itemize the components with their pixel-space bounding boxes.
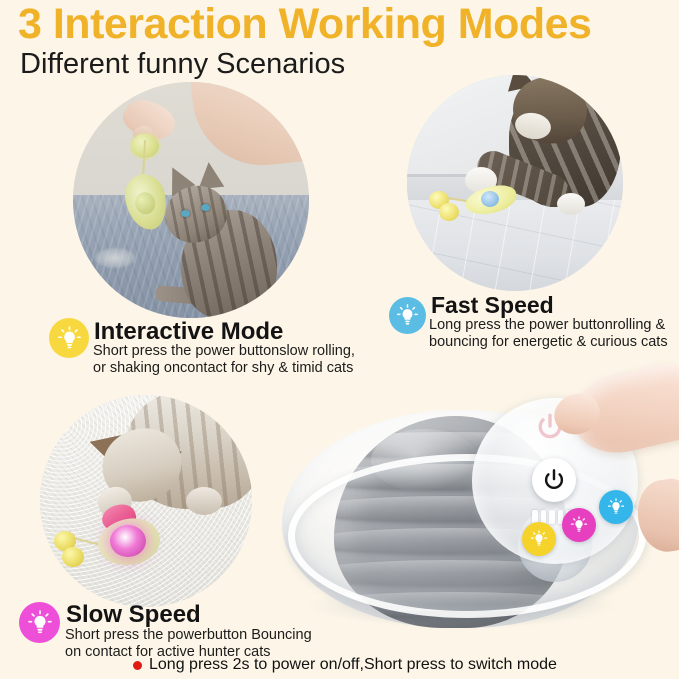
footer-instruction: Long press 2s to power on/off,Short pres… [133,656,557,674]
mode-title: Fast Speed [431,294,554,317]
toy-core-light [481,191,499,207]
fast-mode-indicator[interactable] [599,490,633,524]
cat-eye-left [181,210,190,217]
cat-paw-rear [186,487,222,515]
infographic-canvas: 3 Interaction Working Modes Different fu… [0,0,679,679]
lightbulb-icon [49,318,89,358]
toy-glowing-light [110,525,146,557]
interactive-mode-indicator[interactable] [522,522,556,556]
slow-mode-indicator[interactable] [562,508,596,542]
power-button[interactable] [532,458,576,502]
photo-fast-speed [407,75,623,291]
lightbulb-icon [19,602,60,643]
mode-title: Interactive Mode [94,320,283,344]
page-subtitle: Different funny Scenarios [20,49,345,81]
page-title: 3 Interaction Working Modes [18,2,591,47]
mode-description: Long press the power buttonrolling & bou… [429,317,668,351]
background-blur-object [95,248,135,268]
toy-pompom-b [439,203,459,221]
cat-paw-secondary [557,193,585,215]
photo-interactive-mode [73,82,309,318]
bullet-dot-icon [133,661,142,670]
photo-slow-speed [40,395,252,607]
footer-instruction-text: Long press 2s to power on/off,Short pres… [149,656,557,674]
mode-description: Short press the power buttonslow rolling… [93,343,355,377]
product-image-cat-ball-toy [282,358,679,658]
toy-pompom-b [62,547,84,567]
lightbulb-icon [389,297,426,334]
mode-title: Slow Speed [66,603,201,627]
cat-eye-right [201,204,210,211]
